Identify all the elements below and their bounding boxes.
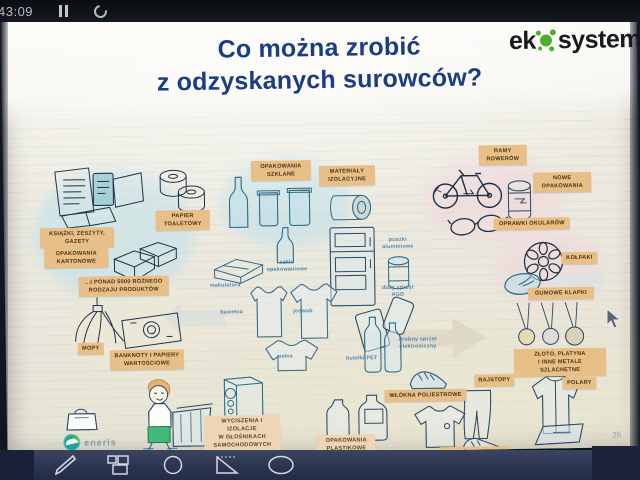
- material-glass-packaging: szkło opakowaniowe: [266, 259, 307, 274]
- material-large-appliances: duży sprzęt AGD: [382, 285, 414, 300]
- screenshot-root: 43:09 Co można zrobić z odzyskanych suro…: [0, 0, 640, 480]
- label-eyeglass-frames: OPRAWKI OKULARÓW: [494, 217, 570, 230]
- clock-label: 43:09: [0, 4, 33, 19]
- triangle-ruler-icon[interactable]: [214, 454, 240, 476]
- label-car-speaker-insulation: WYCISZENIA I IZOLACJE W GŁOŚNIKACH SAMOC…: [204, 415, 281, 453]
- eneris-mark-icon: [63, 434, 80, 451]
- material-wool: wełna: [277, 353, 293, 361]
- material-cotton: bawełna: [220, 309, 243, 317]
- rotate-icon[interactable]: [91, 2, 109, 20]
- mouse-cursor-icon: [606, 308, 622, 330]
- material-pet-bottles: butelki PET: [346, 355, 378, 363]
- molecule-icon: [536, 29, 558, 53]
- label-hubcaps: KOŁPAKI: [561, 252, 597, 265]
- label-glass-packaging: OPAKOWANIA SZKLANE: [251, 160, 311, 181]
- material-aluminium-cans: puszki aluminiowe: [382, 237, 414, 252]
- eneris-logo: eneris: [63, 433, 117, 451]
- label-books-notebooks-papers: KSIĄŻKI, ZESZYTY, GAZETY: [40, 227, 114, 248]
- label-polyester-fibers: WŁÓKNA POLIESTROWE: [384, 389, 466, 402]
- circle-icon[interactable]: [160, 454, 186, 476]
- label-tights: RAJSTOPY: [474, 374, 514, 387]
- label-toilet-paper: PAPIER TOALETOWY: [156, 210, 210, 231]
- art-medals: [511, 300, 588, 351]
- screen-bezel-left: [0, 20, 8, 460]
- status-bar: 43:09: [0, 0, 640, 22]
- material-waste-paper: makulatura: [210, 282, 241, 290]
- material-silk: jedwab: [293, 308, 313, 316]
- label-rubber-flip-flops: GUMOWE KLAPKI: [528, 287, 594, 300]
- art-newspapers: [55, 165, 152, 231]
- art-insulation-roll: [327, 189, 374, 224]
- art-textiles: [243, 280, 354, 374]
- label-bicycle-frames: RAMY ROWERÓW: [479, 145, 527, 166]
- art-mop: [71, 297, 128, 346]
- label-fleeces: POLARY: [562, 377, 596, 390]
- pause-icon[interactable]: [59, 5, 68, 17]
- art-paper-bag: [63, 405, 103, 432]
- screen-bezel-right: [630, 0, 640, 480]
- label-mops: MOPY: [78, 342, 104, 355]
- logo-text-system: system: [558, 25, 640, 55]
- art-bicycle: [431, 163, 506, 210]
- title-line-1: Co można zrobić: [217, 32, 420, 63]
- art-banknote: [121, 310, 184, 351]
- material-small-electronics: drobny sprzęt elektroniczny: [399, 336, 437, 351]
- toolbar-right-edge: [592, 446, 640, 480]
- pen-icon[interactable]: [52, 454, 78, 476]
- art-glass-containers: [227, 174, 324, 232]
- ekosystem-logo: ek system: [509, 25, 640, 56]
- art-door-mat: [533, 422, 589, 449]
- eneris-logo-text: eneris: [84, 437, 117, 448]
- shapes-icon[interactable]: [106, 454, 132, 476]
- label-insulation-materials: MATERIAŁY IZOLACYJNE: [319, 165, 375, 186]
- presentation-slide: Co można zrobić z odzyskanych surowców? …: [1, 11, 640, 457]
- page-number: 26: [612, 430, 621, 439]
- label-carton-packaging: OPAKOWANIA KARTONOWE: [44, 247, 108, 268]
- ellipse-icon[interactable]: [268, 454, 294, 476]
- logo-text-eko: ek: [509, 27, 536, 56]
- label-new-packaging: NOWE OPAKOWANIA: [533, 172, 591, 193]
- label-gold-platinum-metals: ZŁOTO, PLATYNA I INNE METALE SZLACHETNE: [514, 348, 606, 378]
- label-banknotes-securities: BANKNOTY I PAPIERY WARTOŚCIOWE: [110, 349, 184, 370]
- label-5000-products: ...I PONAD 5000 RÓŻNEGO RODZAJU PRODUKTÓ…: [79, 275, 169, 297]
- toolbar-left-edge: [0, 450, 34, 480]
- drawing-toolbar: [0, 450, 640, 480]
